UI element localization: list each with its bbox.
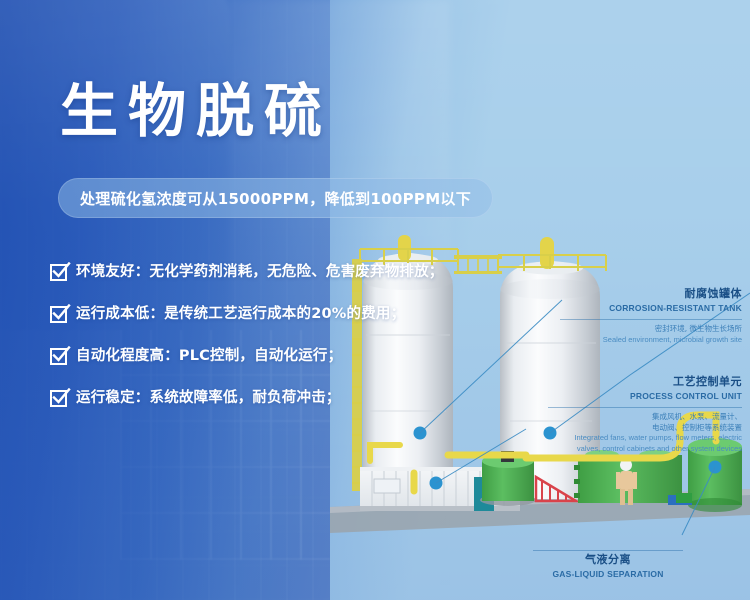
callout-divider-gas-liquid [533, 550, 683, 551]
callout-sub-cn-line2: 电动阀、控制柜等系统装置 [548, 423, 742, 434]
callout-title-en: CORROSION-RESISTANT TANK [560, 302, 742, 314]
list-item: 运行成本低：是传统工艺运行成本的20%的费用； [50, 304, 450, 346]
list-item-label: 自动化程度高：PLC控制，自动化运行； [76, 346, 342, 366]
catwalk [454, 255, 502, 274]
list-item: 环境友好：无化学药剂消耗，无危险、危害废弃物排放； [50, 262, 450, 304]
callout-title-en: GAS-LIQUID SEPARATION [533, 568, 683, 580]
list-item-label: 环境友好：无化学药剂消耗，无危险、危害废弃物排放； [76, 262, 444, 282]
callout-corrosion-resistant-tank: 耐腐蚀罐体 CORROSION-RESISTANT TANK 密封环境, 微生物… [560, 287, 742, 345]
checkbox-checked-icon [50, 390, 67, 407]
checkbox-checked-icon [50, 348, 67, 365]
callout-sub-en-line2: valves, control cabinets and other syste… [548, 444, 742, 455]
callout-title-en: PROCESS CONTROL UNIT [548, 390, 742, 402]
list-item-label: 运行稳定：系统故障率低，耐负荷冲击； [76, 388, 341, 408]
callout-divider [560, 319, 742, 320]
list-item-label: 运行成本低：是传统工艺运行成本的20%的费用； [76, 304, 405, 324]
callout-title-cn: 工艺控制单元 [548, 375, 742, 389]
subtitle-banner: 处理硫化氢浓度可从15000PPM，降低到100PPM以下 [58, 178, 493, 218]
checkbox-checked-icon [50, 264, 67, 281]
list-item: 自动化程度高：PLC控制，自动化运行； [50, 346, 450, 388]
callout-divider [548, 407, 742, 408]
poster-root: 生物脱硫 处理硫化氢浓度可从15000PPM，降低到100PPM以下 环境友好：… [0, 0, 750, 600]
feature-list: 环境友好：无化学药剂消耗，无危险、危害废弃物排放； 运行成本低：是传统工艺运行成… [50, 262, 450, 430]
callout-gas-liquid-separation: 气液分离 GAS-LIQUID SEPARATION [533, 553, 683, 580]
page-title: 生物脱硫 [60, 82, 332, 140]
list-item: 运行稳定：系统故障率低，耐负荷冲击； [50, 388, 450, 430]
subtitle-text: 处理硫化氢浓度可从15000PPM，降低到100PPM以下 [80, 188, 471, 209]
callout-process-control-unit: 工艺控制单元 PROCESS CONTROL UNIT 集成风机、水泵、流量计、… [548, 375, 742, 454]
checkbox-checked-icon [50, 306, 67, 323]
callout-title-cn: 气液分离 [533, 553, 683, 567]
callout-title-cn: 耐腐蚀罐体 [560, 287, 742, 301]
callout-sub-en-line1: Integrated fans, water pumps, flow meter… [548, 433, 742, 444]
callout-sub-cn-line1: 集成风机、水泵、流量计、 [548, 412, 742, 423]
callout-sub-en: Sealed environment, microbial growth sit… [560, 335, 742, 346]
callout-sub-cn: 密封环境, 微生物生长场所 [560, 324, 742, 335]
